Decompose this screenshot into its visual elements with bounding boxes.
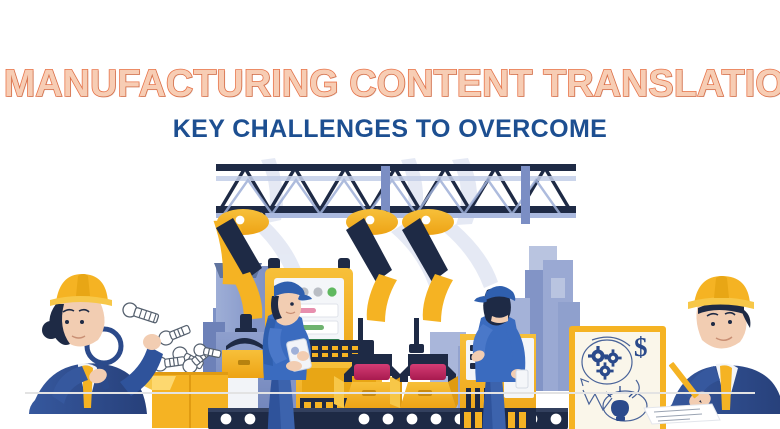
page-subtitle: KEY CHALLENGES TO OVERCOME — [0, 115, 780, 143]
svg-text:$: $ — [634, 332, 648, 362]
dollar-icon: $ — [634, 332, 648, 362]
poster-canvas: MANUFACTURING CONTENT TRANSLATION KEY CH… — [0, 0, 780, 429]
page-title: MANUFACTURING CONTENT TRANSLATION — [4, 64, 776, 104]
paper-sheet — [644, 404, 720, 424]
bolt-icon — [121, 301, 160, 325]
robot-arm-center — [346, 209, 398, 353]
factory-automation-illustration: $ — [0, 150, 780, 429]
